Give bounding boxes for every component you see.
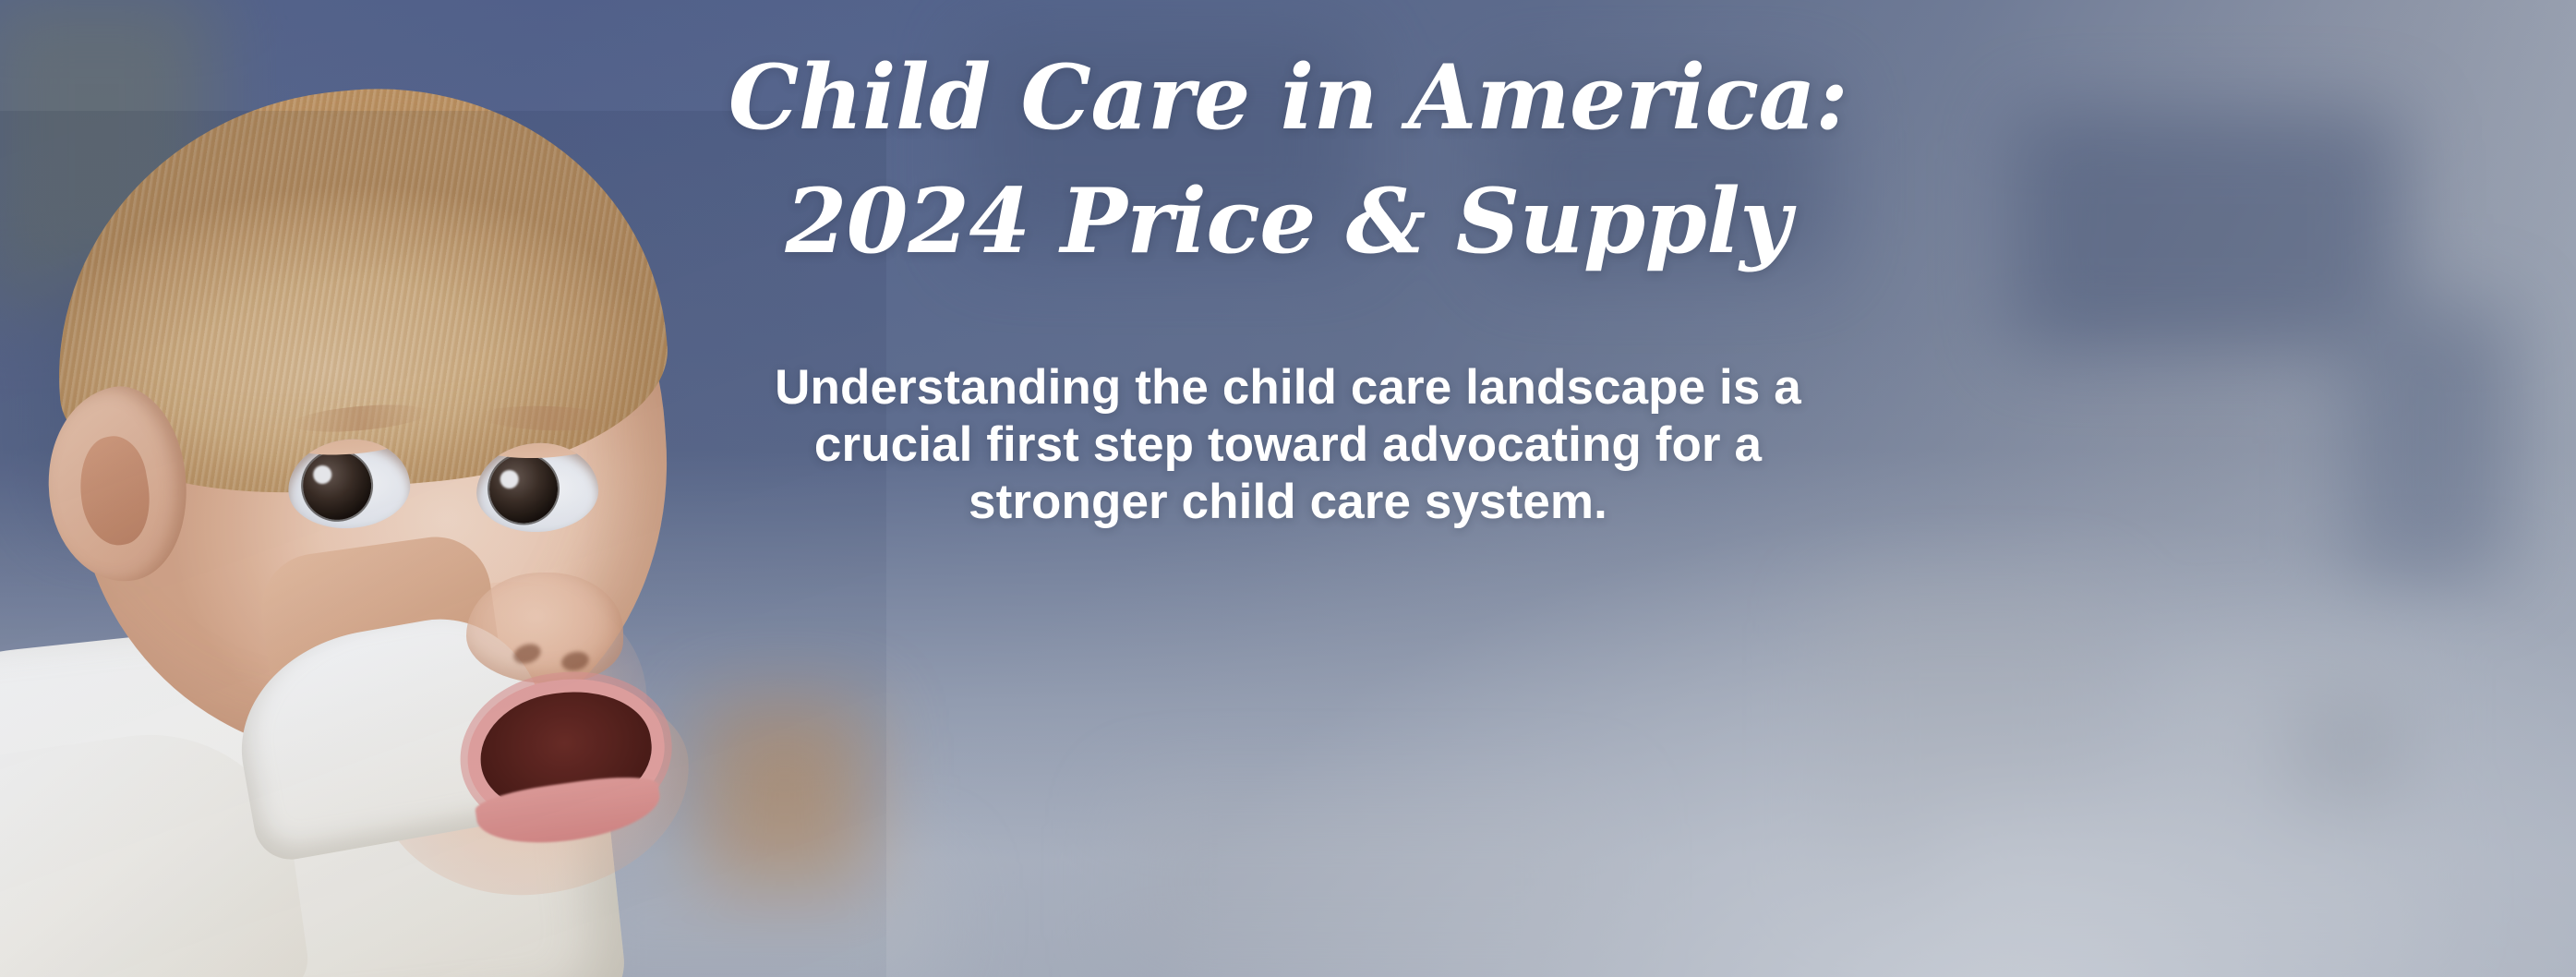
page-title: Child Care in America: 2024 Price & Supp… bbox=[669, 0, 1907, 281]
hero-subtitle-line-1: Understanding the child care landscape i… bbox=[642, 359, 1934, 416]
hero-subtitle-line-3: stronger child care system. bbox=[642, 474, 1934, 531]
hero-banner: Child Care in America: 2024 Price & Supp… bbox=[0, 0, 2576, 977]
hero-subtitle: Understanding the child care landscape i… bbox=[642, 281, 1934, 531]
hero-content: Child Care in America: 2024 Price & Supp… bbox=[0, 0, 2576, 977]
hero-subtitle-line-2: crucial first step toward advocating for… bbox=[642, 416, 1934, 474]
page-title-line-1: Child Care in America: bbox=[669, 39, 1907, 157]
page-title-line-2: 2024 Price & Supply bbox=[669, 163, 1907, 281]
